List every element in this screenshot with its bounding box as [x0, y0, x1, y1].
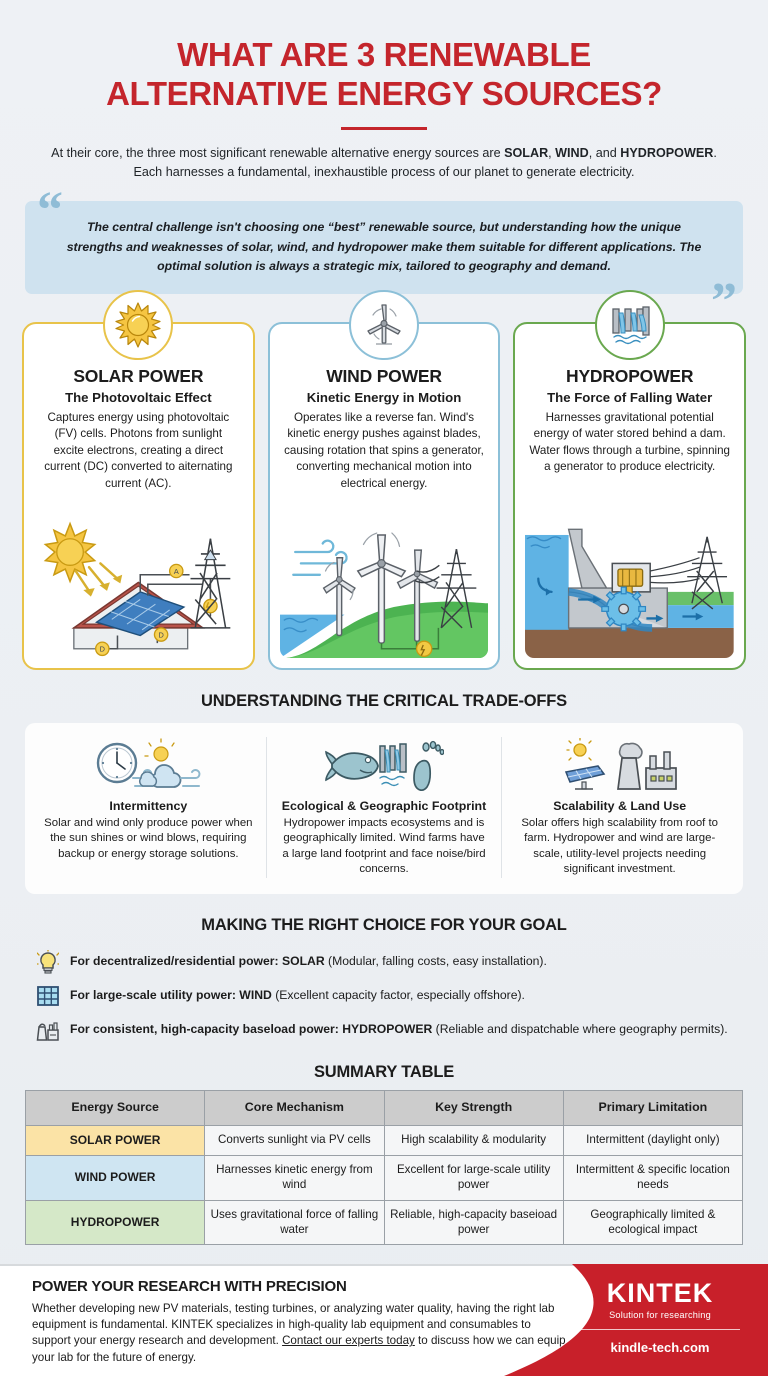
- choice-item-hydro[interactable]: For consistent, high-capacity baseload p…: [26, 1013, 742, 1047]
- tradeoff-item-footprint: Ecological & Geographic Footprint Hydrop…: [266, 737, 502, 878]
- fish-dam-footprint-icon: [279, 737, 490, 793]
- row-source-hydro: HYDROPOWER: [26, 1200, 205, 1245]
- card-wind-power[interactable]: WIND POWER Kinetic Energy in Motion Oper…: [268, 322, 501, 670]
- wind-turbine-icon: [349, 290, 419, 360]
- choice-text-hydro: For consistent, high-capacity baseload p…: [70, 1022, 728, 1038]
- row-source-solar: SOLAR POWER: [26, 1125, 205, 1155]
- card-hydropower[interactable]: HYDROPOWER The Force of Falling Water Ha…: [513, 322, 746, 670]
- row-limitation-solar: Intermittent (daylight only): [563, 1125, 742, 1155]
- table-row: WIND POWER Harnesses kinetic energy from…: [26, 1156, 743, 1201]
- tradeoff-desc-footprint: Hydropower impacts ecosystems and is geo…: [279, 816, 490, 878]
- choice-list: For decentralized/residential power: SOL…: [26, 945, 742, 1047]
- card-description-hydro: Harnesses gravitational potential energy…: [525, 410, 734, 476]
- intro-paragraph: At their core, the three most significan…: [0, 130, 768, 183]
- tradeoff-desc-scalability: Solar offers high scalability from roof …: [514, 816, 725, 878]
- tradeoff-title-footprint: Ecological & Geographic Footprint: [279, 799, 490, 813]
- brand-block: KINTEK Solution for researching kindle-t…: [574, 1280, 746, 1355]
- page-title-line1: WHAT ARE 3 RENEWABLE: [40, 36, 728, 75]
- brand-tagline: Solution for researching: [574, 1310, 746, 1320]
- col-energy-source: Energy Source: [26, 1090, 205, 1125]
- contact-experts-link[interactable]: Contact our experts today: [282, 1334, 415, 1347]
- page-title-line2: ALTERNATIVE ENERGY SOURCES?: [40, 75, 728, 114]
- choice-rest-hydro: (Reliable and dispatchable where geograp…: [432, 1022, 727, 1036]
- hydro-dam-turbine-illustration: [525, 516, 734, 658]
- power-plant-icon: [36, 1018, 60, 1042]
- card-title-wind: WIND POWER: [280, 366, 489, 387]
- summary-table-wrap: Energy Source Core Mechanism Key Strengt…: [25, 1090, 743, 1246]
- tradeoffs-heading: UNDERSTANDING THE CRITICAL TRADE-OFFS: [0, 692, 768, 711]
- row-mechanism-wind: Harnesses kinetic energy from wind: [205, 1156, 384, 1201]
- quote-open-icon: “: [37, 185, 63, 237]
- card-subtitle-hydro: The Force of Falling Water: [525, 390, 734, 405]
- row-source-wind: WIND POWER: [26, 1156, 205, 1201]
- solar-panel-house-illustration: DDA: [34, 516, 243, 658]
- quote-box: The central challenge isn't choosing one…: [25, 201, 743, 294]
- quote-text: The central challenge isn't choosing one…: [59, 218, 709, 277]
- card-subtitle-solar: The Photovoltaic Effect: [34, 390, 243, 405]
- choice-bold-hydro: For consistent, high-capacity baseload p…: [70, 1022, 432, 1036]
- tradeoff-item-scalability: Scalability & Land Use Solar offers high…: [501, 737, 737, 878]
- dam-icon: [595, 290, 665, 360]
- table-header-row: Energy Source Core Mechanism Key Strengt…: [26, 1090, 743, 1125]
- col-core-mechanism: Core Mechanism: [205, 1090, 384, 1125]
- choice-text-solar: For decentralized/residential power: SOL…: [70, 954, 547, 970]
- choice-rest-solar: (Modular, falling costs, easy installati…: [325, 954, 547, 968]
- clock-sun-cloud-wind-icon: [43, 737, 254, 793]
- tradeoff-item-intermittency: Intermittency Solar and wind only produc…: [31, 737, 266, 878]
- infographic-page: WHAT ARE 3 RENEWABLE ALTERNATIVE ENERGY …: [0, 0, 768, 1376]
- row-strength-solar: High scalability & modularity: [384, 1125, 563, 1155]
- row-limitation-wind: Intermittent & specific location needs: [563, 1156, 742, 1201]
- choice-item-solar[interactable]: For decentralized/residential power: SOL…: [26, 945, 742, 979]
- choice-bold-wind: For large-scale utility power: WIND: [70, 988, 272, 1002]
- footer-copy: POWER YOUR RESEARCH WITH PRECISION Wheth…: [32, 1278, 572, 1366]
- pull-quote: “ The central challenge isn't choosing o…: [25, 201, 743, 294]
- page-title: WHAT ARE 3 RENEWABLE ALTERNATIVE ENERGY …: [0, 0, 768, 130]
- card-title-hydro: HYDROPOWER: [525, 366, 734, 387]
- table-row: SOLAR POWER Converts sunlight via PV cel…: [26, 1125, 743, 1155]
- intro-text-3: , and: [589, 146, 621, 160]
- choice-item-wind[interactable]: For large-scale utility power: WIND (Exc…: [26, 979, 742, 1013]
- choice-bold-solar: For decentralized/residential power: SOL…: [70, 954, 325, 968]
- footer: POWER YOUR RESEARCH WITH PRECISION Wheth…: [0, 1264, 768, 1376]
- card-subtitle-wind: Kinetic Energy in Motion: [280, 390, 489, 405]
- tradeoff-title-intermittency: Intermittency: [43, 799, 254, 813]
- footer-heading: POWER YOUR RESEARCH WITH PRECISION: [32, 1278, 572, 1295]
- row-strength-wind: Excellent for large-scale utility power: [384, 1156, 563, 1201]
- quote-close-icon: ”: [711, 276, 737, 328]
- energy-source-cards: SOLAR POWER The Photovoltaic Effect Capt…: [0, 294, 768, 670]
- tradeoff-desc-intermittency: Solar and wind only produce power when t…: [43, 816, 254, 863]
- choice-heading: MAKING THE RIGHT CHOICE FOR YOUR GOAL: [0, 916, 768, 935]
- tradeoff-title-scalability: Scalability & Land Use: [514, 799, 725, 813]
- solar-grid-icon: [36, 984, 60, 1008]
- card-title-solar: SOLAR POWER: [34, 366, 243, 387]
- row-limitation-hydro: Geographically limited & ecological impa…: [563, 1200, 742, 1245]
- svg-text:D: D: [100, 644, 106, 653]
- intro-bold-wind: WIND: [555, 146, 589, 160]
- card-description-wind: Operates like a reverse fan. Wind's kine…: [280, 410, 489, 492]
- col-primary-limitation: Primary Limitation: [563, 1090, 742, 1125]
- choice-rest-wind: (Excellent capacity factor, especially o…: [272, 988, 525, 1002]
- tradeoffs-panel: Intermittency Solar and wind only produc…: [25, 723, 743, 894]
- choice-text-wind: For large-scale utility power: WIND (Exc…: [70, 988, 525, 1004]
- row-mechanism-solar: Converts sunlight via PV cells: [205, 1125, 384, 1155]
- row-strength-hydro: Reliable, high-capacity baseioad power: [384, 1200, 563, 1245]
- brand-name: KINTEK: [574, 1280, 746, 1307]
- summary-heading: SUMMARY TABLE: [0, 1063, 768, 1082]
- lightbulb-icon: [36, 950, 60, 974]
- intro-bold-hydro: HYDROPOWER: [620, 146, 713, 160]
- brand-divider: [580, 1329, 740, 1330]
- footer-body: Whether developing new PV materials, tes…: [32, 1301, 572, 1366]
- row-mechanism-hydro: Uses gravitational force of falling wate…: [205, 1200, 384, 1245]
- solar-panel-factory-icon: [514, 737, 725, 793]
- summary-table: Energy Source Core Mechanism Key Strengt…: [25, 1090, 743, 1246]
- svg-text:D: D: [158, 630, 164, 639]
- brand-url[interactable]: kindle-tech.com: [574, 1340, 746, 1355]
- sun-icon: [103, 290, 173, 360]
- col-key-strength: Key Strength: [384, 1090, 563, 1125]
- intro-text-1: At their core, the three most significan…: [51, 146, 504, 160]
- card-solar-power[interactable]: SOLAR POWER The Photovoltaic Effect Capt…: [22, 322, 255, 670]
- card-description-solar: Captures energy using photovoltaic (FV) …: [34, 410, 243, 492]
- intro-bold-solar: SOLAR: [504, 146, 548, 160]
- table-row: HYDROPOWER Uses gravitational force of f…: [26, 1200, 743, 1245]
- wind-farm-illustration: [280, 516, 489, 658]
